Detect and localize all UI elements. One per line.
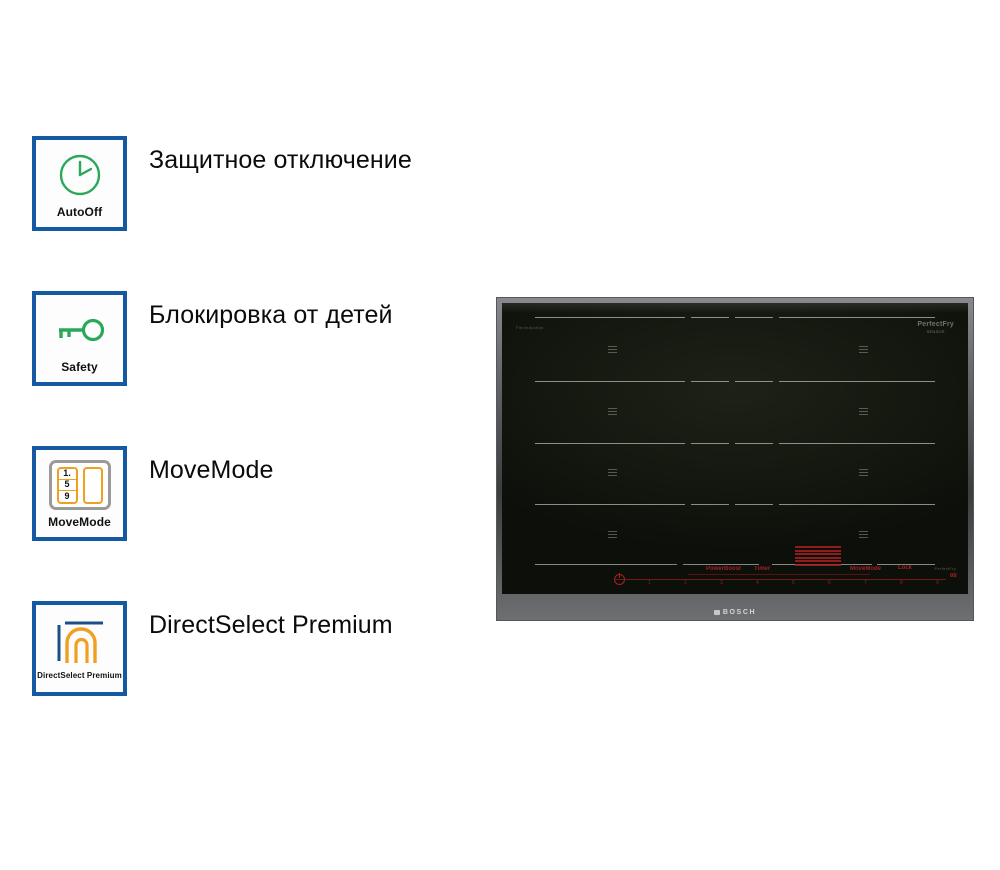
- feature-row-directselect: DirectSelect Premium DirectSelect Premiu…: [32, 601, 452, 756]
- autooff-clock-icon: [49, 149, 111, 201]
- level-digit[interactable]: 5: [792, 581, 795, 586]
- zone-center-mark: [859, 469, 868, 476]
- level-digit[interactable]: 2: [684, 581, 687, 586]
- function-glyph-powerboost[interactable]: PowerBoost: [706, 566, 741, 572]
- cooktop-glass-surface: FlexInduction PerfectFry SENSOR Perf: [502, 303, 968, 594]
- directselect-premium-icon: [49, 617, 111, 667]
- movemode-number: 1.: [59, 469, 76, 480]
- cooktop-control-panel[interactable]: 1 2 3 4 5 6 7 8 9 PowerBoost Timer MoveM…: [602, 544, 956, 588]
- level-digit[interactable]: 9: [936, 581, 939, 586]
- level-digit[interactable]: 3: [720, 581, 723, 586]
- control-panel-upper-line: [688, 574, 870, 575]
- perfectfry-logo-main: PerfectFry: [917, 321, 954, 328]
- zone-divider-line: [535, 443, 935, 444]
- zone-center-mark: [608, 346, 617, 353]
- badge-directselect: DirectSelect Premium: [32, 601, 127, 696]
- zone-center-mark: [608, 408, 617, 415]
- badge-autooff: AutoOff: [32, 136, 127, 231]
- feature-label-directselect: DirectSelect Premium: [149, 601, 393, 641]
- zone-center-mark: [608, 531, 617, 538]
- function-glyph-timer[interactable]: Timer: [754, 566, 770, 572]
- level-digit[interactable]: 1: [648, 581, 651, 586]
- level-digit[interactable]: 8: [900, 581, 903, 586]
- function-glyph-lock[interactable]: Lock: [898, 565, 912, 571]
- movemode-pane-left: 1. 5 9: [57, 467, 78, 504]
- badge-caption: AutoOff: [57, 206, 102, 218]
- bosch-logo-text: BOSCH: [723, 609, 756, 616]
- badge-movemode: 1. 5 9 MoveMode: [32, 446, 127, 541]
- glass-sheen: [502, 303, 968, 313]
- level-digit[interactable]: 4: [756, 581, 759, 586]
- zone-divider-line: [535, 504, 935, 505]
- feature-row-autooff: AutoOff Защитное отключение: [32, 136, 452, 291]
- movemode-pane-right: [83, 467, 103, 504]
- movemode-panes-icon: 1. 5 9: [49, 459, 111, 511]
- bosch-mark-icon: [714, 610, 720, 615]
- movemode-number: 5: [59, 480, 76, 491]
- feature-list: AutoOff Защитное отключение Safety Блоки…: [32, 136, 452, 756]
- movemode-number: 9: [59, 491, 76, 501]
- badge-caption: DirectSelect Premium: [37, 672, 122, 680]
- zone-divider-line: [535, 381, 935, 382]
- level-digit[interactable]: 6: [828, 581, 831, 586]
- cooktop-product-image: FlexInduction PerfectFry SENSOR Perf: [497, 298, 973, 620]
- zone-center-mark: [859, 408, 868, 415]
- safety-key-icon: [49, 304, 111, 356]
- perfectfry-logo-sub: SENSOR: [917, 330, 954, 334]
- zone-divider-line: [535, 317, 935, 318]
- bosch-logo: BOSCH: [497, 609, 973, 616]
- badge-caption: Safety: [61, 361, 98, 373]
- cooktop-surface-label: FlexInduction: [516, 325, 544, 330]
- power-level-slider[interactable]: [795, 546, 841, 566]
- function-glyph-movemode[interactable]: MoveMode: [850, 566, 881, 572]
- perfectfry-logo: PerfectFry SENSOR: [917, 321, 954, 334]
- feature-label-safety: Блокировка от детей: [149, 291, 393, 331]
- feature-row-movemode: 1. 5 9 MoveMode MoveMode: [32, 446, 452, 601]
- feature-label-movemode: MoveMode: [149, 446, 273, 486]
- function-glyph-display: 88: [950, 573, 957, 579]
- zone-center-mark: [859, 531, 868, 538]
- feature-row-safety: Safety Блокировка от детей: [32, 291, 452, 446]
- zone-center-mark: [608, 469, 617, 476]
- badge-caption: MoveMode: [48, 516, 111, 528]
- zone-center-mark: [859, 346, 868, 353]
- control-panel-base-line: [614, 579, 946, 580]
- badge-safety: Safety: [32, 291, 127, 386]
- level-digit[interactable]: 7: [864, 581, 867, 586]
- feature-label-autooff: Защитное отключение: [149, 136, 412, 176]
